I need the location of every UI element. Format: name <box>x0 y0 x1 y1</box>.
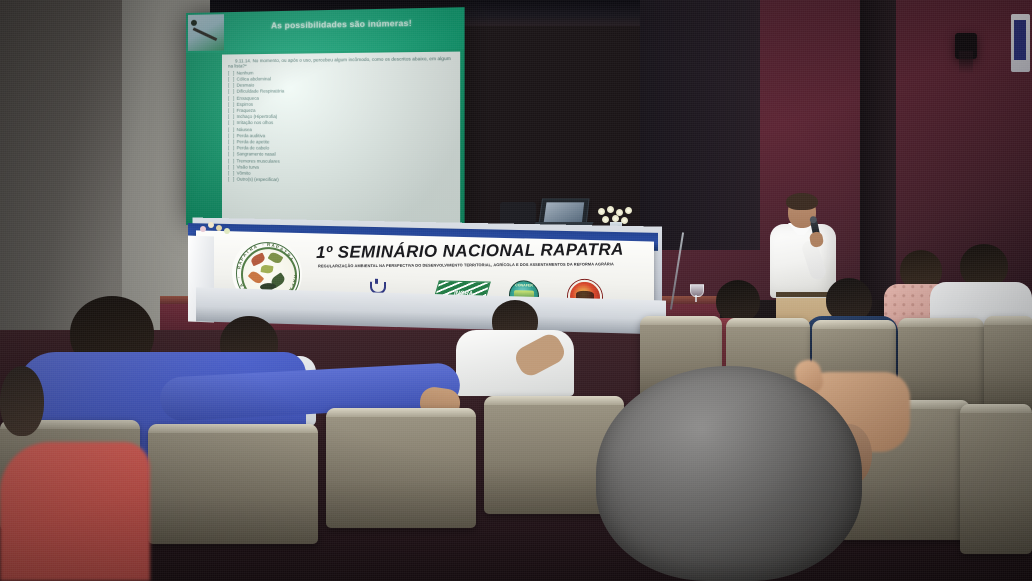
flower-arrangement-left <box>200 222 234 242</box>
audience-coral-shirt <box>0 442 150 581</box>
chair <box>960 404 1032 554</box>
chair <box>148 424 318 544</box>
speaker-shirt <box>770 224 836 298</box>
wall-sign <box>1011 14 1030 72</box>
speaker-belt <box>776 292 832 297</box>
wall-shadow <box>640 0 760 250</box>
chair <box>326 408 476 528</box>
banner-title: 1º SEMINÁRIO NACIONAL RAPATRA <box>316 240 642 263</box>
table-chair <box>500 202 536 226</box>
wall-speaker <box>955 33 977 59</box>
slide-option: [ ] Outro(s) (especificar) <box>226 177 456 186</box>
slide-body: 9.11.14. No momento, ou após o uso, perc… <box>222 52 460 229</box>
conference-photo: As possibilidades são inúmeras! 9.11.14.… <box>0 0 1032 581</box>
wine-glass <box>690 284 702 304</box>
audience-grey-hair-foreground <box>596 366 862 581</box>
projection-screen: As possibilidades são inúmeras! 9.11.14.… <box>186 7 465 231</box>
conafer-label: CONAFER <box>510 283 538 288</box>
slide-header-bar <box>186 7 465 53</box>
unirio-mark-icon <box>368 279 384 293</box>
slide-option-list: [ ] Nenhum[ ] Cólica abdominal[ ] Desmai… <box>226 68 456 186</box>
speaker-hair <box>786 193 818 210</box>
wall-left <box>0 0 210 340</box>
wall-column <box>860 0 896 300</box>
audience-burgundy-head <box>716 280 760 322</box>
chair <box>984 316 1032 412</box>
audience-coral-shirt-head <box>0 366 44 436</box>
banner-subtitle: REGULARIZAÇÃO AMBIENTAL NA PERSPECTIVA D… <box>318 261 638 268</box>
slide-photo-thumbnail <box>188 14 224 51</box>
